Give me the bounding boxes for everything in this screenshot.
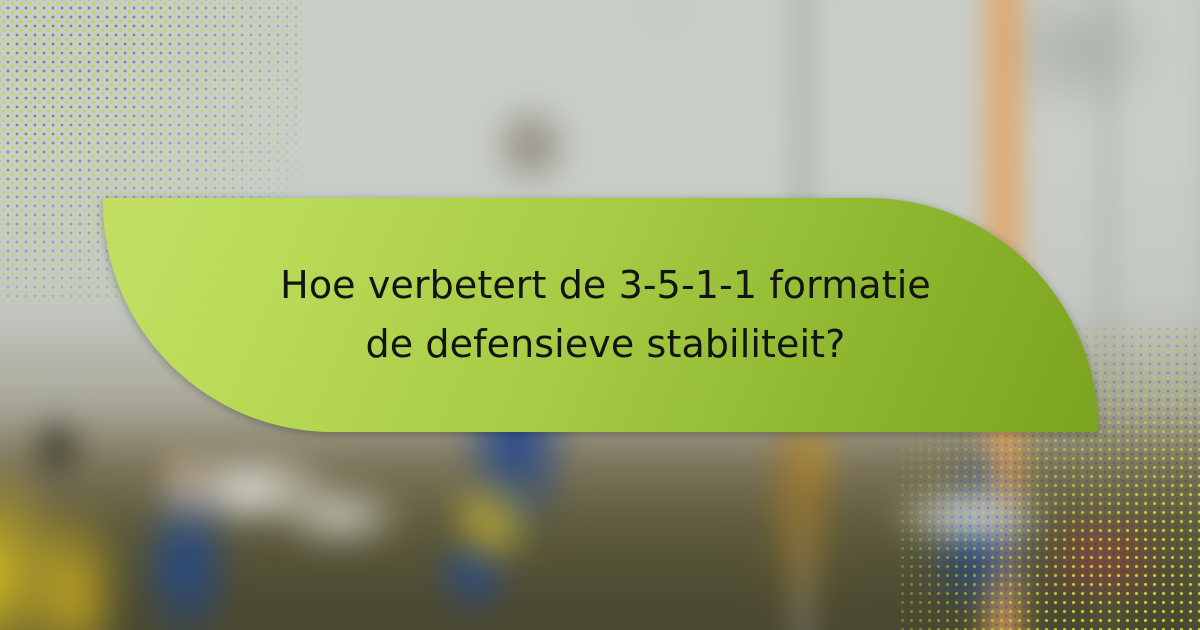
headline-banner: Hoe verbetert de 3-5-1-1 formatie de def… [103, 198, 1098, 432]
page-title: Hoe verbetert de 3-5-1-1 formatie de def… [256, 256, 956, 374]
poster-canvas: Hoe verbetert de 3-5-1-1 formatie de def… [0, 0, 1200, 630]
